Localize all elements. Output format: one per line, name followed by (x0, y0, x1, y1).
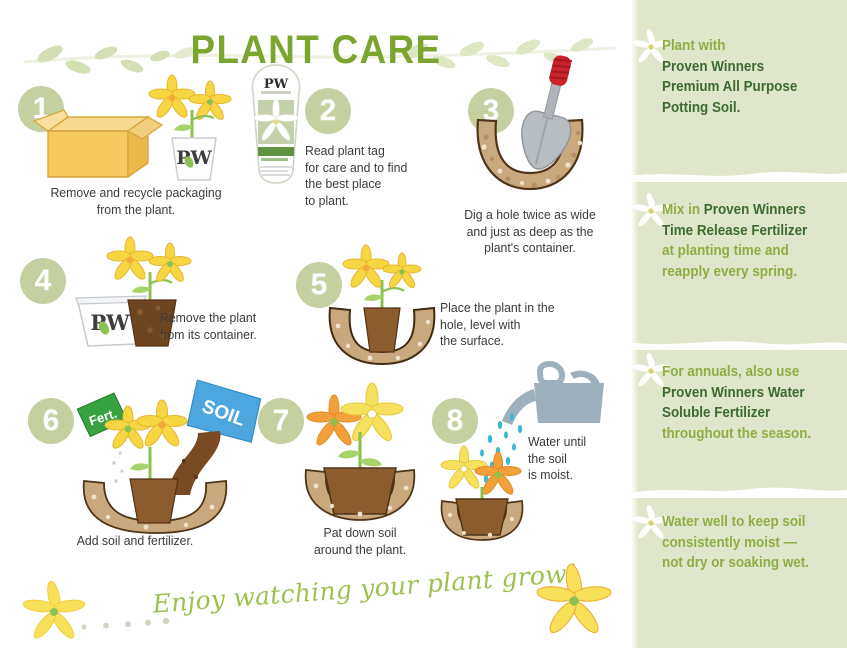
sidebar-tip-4: Water well to keep soil consistently moi… (632, 512, 847, 574)
step-4-caption: Remove the plantfrom its container. (160, 310, 300, 343)
step-5-caption: Place the plant in thehole, level withth… (440, 300, 589, 350)
sidebar-tip-1-text: Plant withProven Winners Premium All Pur… (662, 36, 846, 118)
sidebar-tip-1: Plant withProven Winners Premium All Pur… (632, 36, 847, 118)
step-6-art-soil-and-fertilizer: Fert. SOIL (58, 385, 273, 525)
step-1-caption: Remove and recycle packagingfrom the pla… (10, 185, 263, 218)
footer-tagline-band: Enjoy watching your plant grow! (0, 560, 632, 630)
sidebar-tip-2-text: Mix in Proven Winners Time Release Ferti… (662, 200, 846, 282)
sidebar-tip-3-text: For annuals, also use Proven Winners Wat… (662, 362, 846, 444)
step-6-caption: Add soil and fertilizer. (28, 533, 242, 550)
sidebar-divider-1 (632, 170, 847, 182)
sidebar-divider-2 (632, 338, 847, 350)
step-2-caption: Read plant tagfor care and to findthe be… (305, 143, 440, 209)
sidebar-tip-4-text: Water well to keep soil consistently moi… (662, 512, 846, 574)
sidebar-tip-3: For annuals, also use Proven Winners Wat… (632, 362, 847, 444)
footer-flower-right-icon (540, 570, 610, 632)
tips-sidebar: Plant withProven Winners Premium All Pur… (632, 0, 847, 648)
step-2-art-plant-tag: PW (245, 62, 307, 187)
plant-care-infographic: PLANT CARE 1 (0, 0, 847, 648)
step-7-caption: Pat down soilaround the plant. (267, 525, 453, 558)
step-7-art-patted-soil (290, 380, 430, 520)
footer-dot-trail (78, 616, 188, 630)
step-2-number: 2 (305, 88, 351, 134)
sidebar-tip-2: Mix in Proven Winners Time Release Ferti… (632, 200, 847, 282)
step-1-art-potted-plant: PW (140, 80, 250, 188)
step-8-caption: Water untilthe soilis moist. (528, 434, 630, 484)
footer-flower-left-icon (28, 586, 84, 636)
sidebar-divider-3 (632, 486, 847, 498)
step-3-caption: Dig a hole twice as wideand just as deep… (437, 207, 623, 257)
step-1-pot-logo: PW (176, 147, 212, 169)
step-2-tag-logo: PW (264, 77, 289, 92)
steps-panel: PLANT CARE 1 (0, 0, 632, 648)
step-3-art-trowel-and-hole (448, 55, 613, 205)
step-5-art-plant-in-hole (318, 248, 448, 368)
footer-tagline: Enjoy watching your plant grow! (152, 558, 579, 618)
